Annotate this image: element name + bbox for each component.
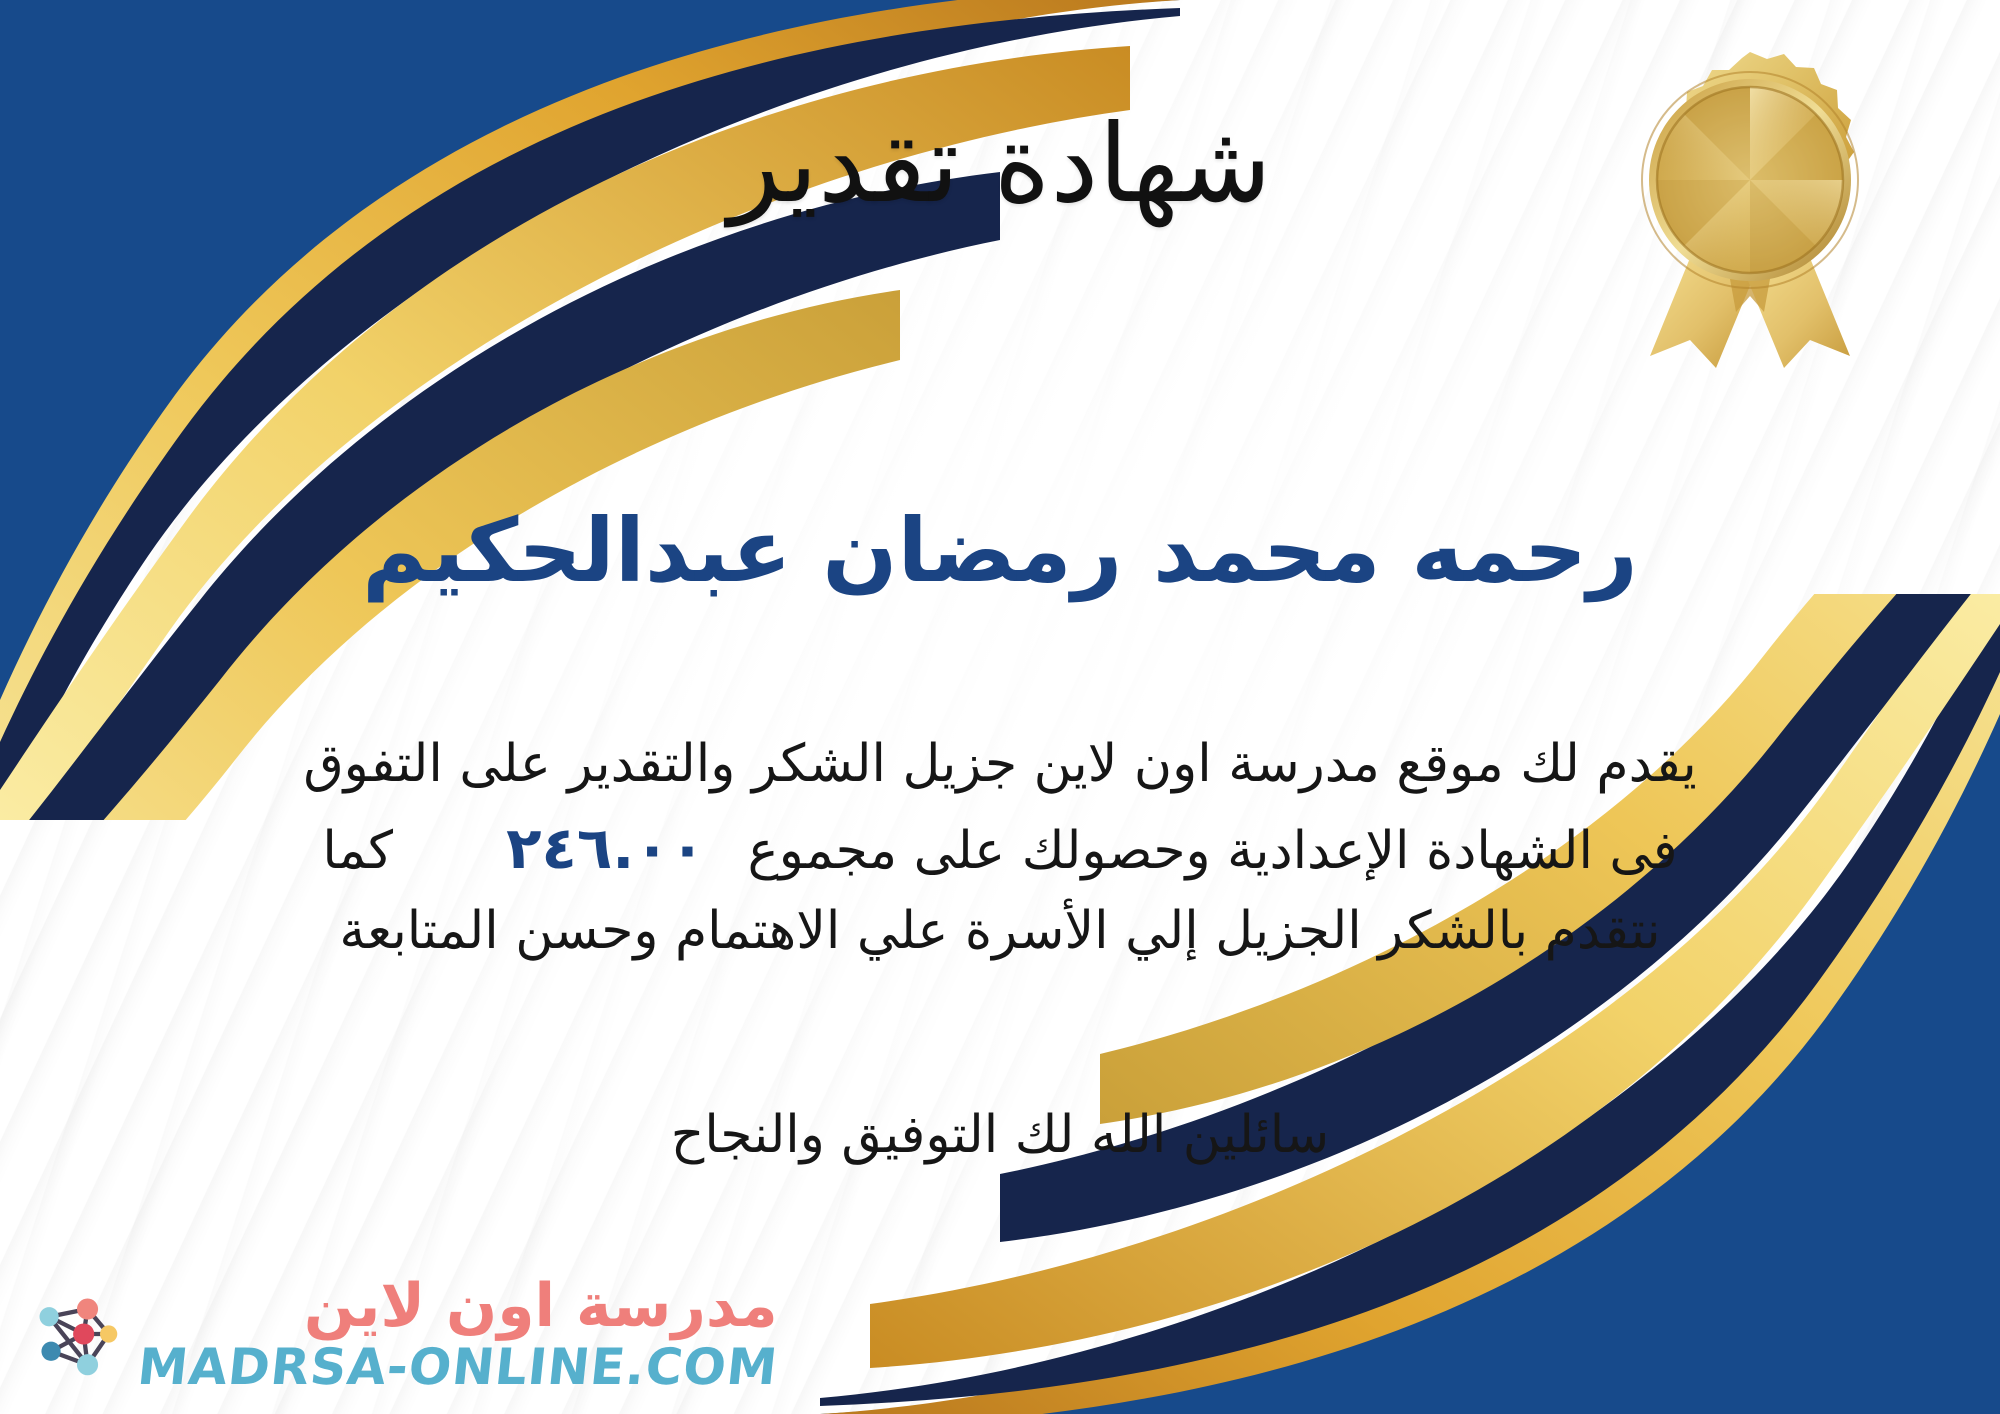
body-line-3: نتقدم بالشكر الجزيل إلي الأسرة علي الاهت… bbox=[60, 892, 1940, 971]
closing-line: سائلين الله لك التوفيق والنجاح bbox=[0, 1105, 2000, 1165]
recipient-name: رحمه محمد رمضان عبدالحكيم bbox=[0, 500, 2000, 601]
body-line-2-left: كما bbox=[322, 821, 393, 881]
body-line-2: فى الشهادة الإعدادية وحصولك على مجموع ٢٤… bbox=[60, 804, 1940, 892]
logo-text-block: مدرسة اون لاين MADRSA-ONLINE.COM bbox=[138, 1276, 778, 1392]
network-nodes-icon bbox=[28, 1286, 124, 1382]
logo-brand-url: MADRSA-ONLINE.COM bbox=[135, 1342, 780, 1392]
certificate-canvas: شهادة تقدير رحمه محمد رمضان عبدالحكيم يق… bbox=[0, 0, 2000, 1414]
certificate-body: يقدم لك موقع مدرسة اون لاين جزيل الشكر و… bbox=[60, 725, 1940, 971]
gold-award-rosette-icon bbox=[1598, 40, 1908, 370]
site-logo[interactable]: مدرسة اون لاين MADRSA-ONLINE.COM bbox=[28, 1276, 778, 1392]
body-line-2-right: فى الشهادة الإعدادية وحصولك على مجموع bbox=[748, 821, 1678, 881]
grade-value: ٢٤٦.٠٠ bbox=[480, 814, 731, 882]
body-line-1: يقدم لك موقع مدرسة اون لاين جزيل الشكر و… bbox=[60, 725, 1940, 804]
logo-brand-arabic: مدرسة اون لاين bbox=[304, 1276, 778, 1336]
